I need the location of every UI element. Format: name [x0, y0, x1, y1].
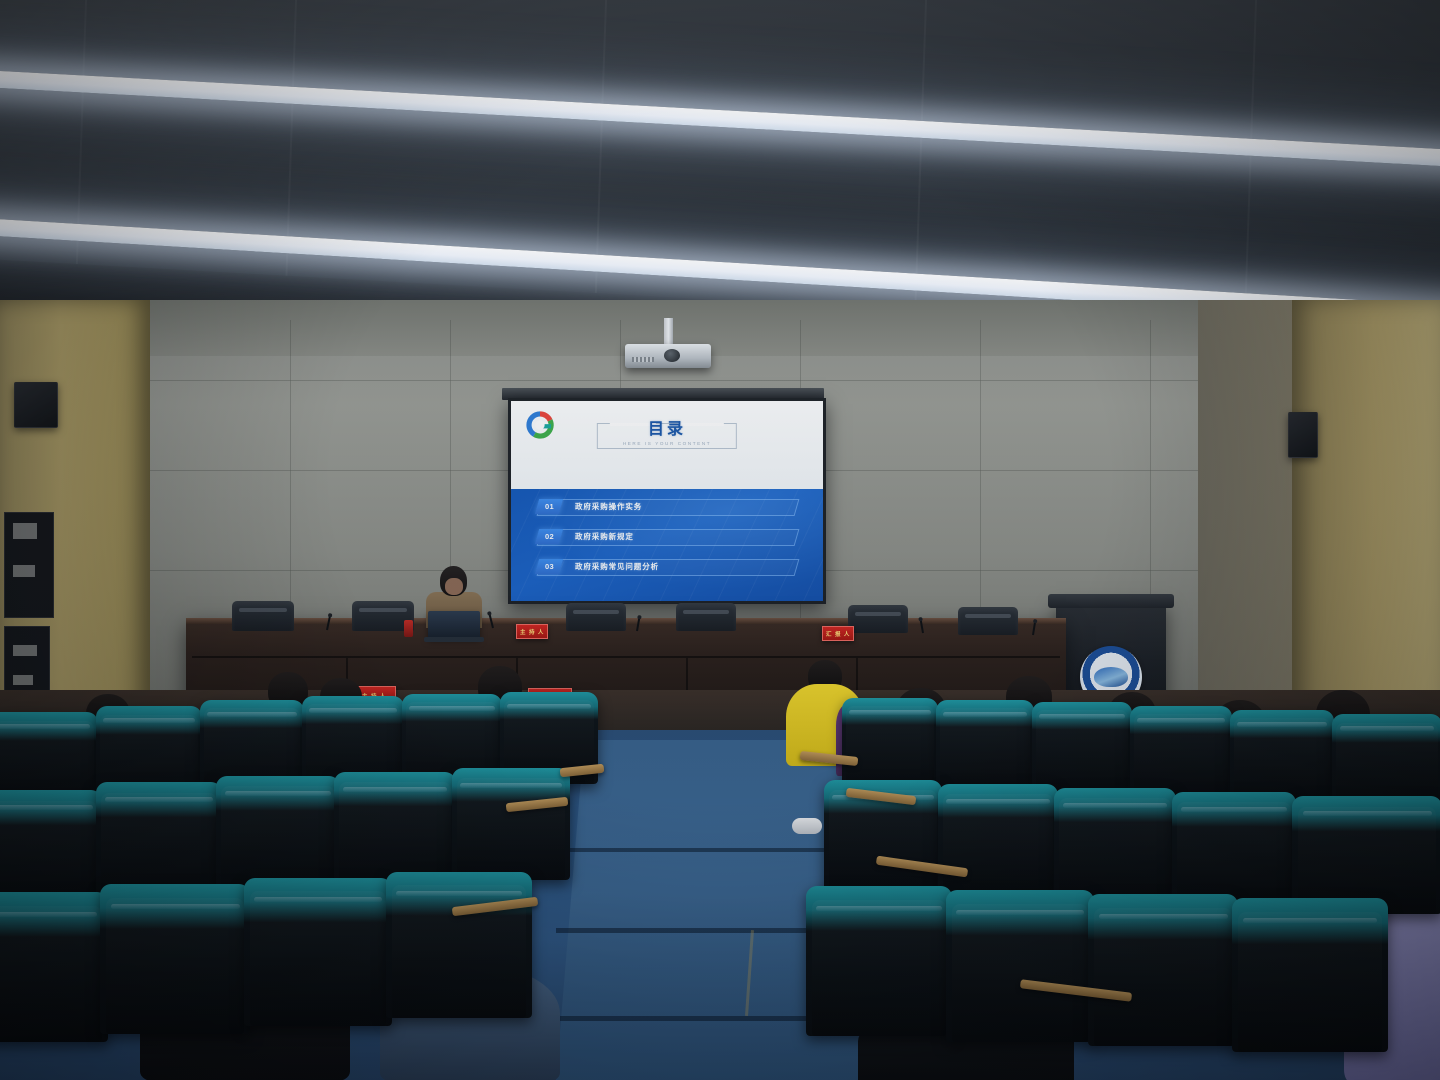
list-item: 01 政府采购操作实务 [537, 499, 797, 514]
table-of-contents-list: 01 政府采购操作实务 02 政府采购新规定 0 [511, 499, 823, 589]
auditorium-seat [1230, 710, 1334, 804]
projection-screen: 目录 Here is your Content 01 政府采购操作实务 [508, 398, 826, 604]
item-number-badge: 03 [535, 559, 563, 574]
item-number-badge: 02 [535, 529, 563, 544]
lecture-hall-photo: 目录 Here is your Content 01 政府采购操作实务 [0, 0, 1440, 1080]
auditorium-seat [842, 698, 938, 788]
auditorium-seat [1130, 706, 1232, 800]
item-label: 政府采购新规定 [575, 531, 634, 542]
projector-vent [632, 357, 654, 362]
conference-chair [958, 607, 1018, 635]
table-nameplate: 汇 报 人 [822, 626, 854, 641]
auditorium-seat [216, 776, 340, 892]
slide-subtitle: Here is your Content [623, 441, 711, 446]
item-number: 01 [545, 502, 554, 511]
nameplate-text: 汇 报 人 [826, 629, 850, 637]
auditorium-seat [1292, 796, 1440, 914]
right-wall-column [1292, 300, 1440, 730]
slide-title: 目录 [623, 422, 711, 438]
auditorium-seat [1232, 898, 1388, 1052]
projector-lens-icon [664, 349, 680, 362]
presenter-laptop [428, 611, 480, 638]
wall-speaker-icon [14, 382, 58, 428]
list-item: 03 政府采购常见问题分析 [537, 559, 797, 574]
spiral-g-logo [523, 408, 557, 442]
presentation-slide: 目录 Here is your Content 01 政府采购操作实务 [511, 401, 823, 601]
item-label: 政府采购常见问题分析 [575, 561, 659, 572]
auditorium-seat [0, 790, 102, 908]
slide-header-area: 目录 Here is your Content [511, 401, 823, 489]
right-wall-panel [1198, 300, 1294, 730]
presenter-face [445, 578, 463, 595]
auditorium-seat [452, 768, 570, 880]
item-label: 政府采购操作实务 [575, 501, 642, 512]
slide-title-block: 目录 Here is your Content [597, 419, 737, 449]
table-nameplate: 主 持 人 [516, 624, 548, 639]
table-edge [186, 618, 1066, 624]
auditorium-seat [100, 884, 250, 1034]
auditorium-seat [244, 878, 392, 1026]
item-number-badge: 01 [535, 499, 563, 514]
list-item: 02 政府采购新规定 [537, 529, 797, 544]
wall-electrical-box [4, 512, 54, 618]
conference-chair [566, 603, 626, 631]
auditorium-seat [1054, 788, 1176, 902]
red-cup [404, 620, 413, 637]
auditorium-seat [1032, 702, 1132, 794]
podium-top-surface [1048, 594, 1174, 608]
audience-shoe [792, 818, 822, 834]
auditorium-seat [938, 784, 1058, 896]
wall-speaker-icon [1288, 412, 1318, 458]
auditorium-seat [806, 886, 952, 1036]
conference-chair [676, 603, 736, 631]
item-number: 02 [545, 532, 554, 541]
auditorium-seat [96, 782, 222, 900]
auditorium-seat [946, 890, 1094, 1042]
auditorium-seat [1172, 792, 1296, 908]
auditorium-seat [0, 892, 108, 1042]
conference-chair [848, 605, 908, 633]
auditorium-seat [936, 700, 1034, 790]
auditorium-seat [334, 772, 456, 886]
nameplate-text: 主 持 人 [520, 627, 544, 635]
table-seam [192, 656, 1060, 658]
item-number: 03 [545, 562, 554, 571]
auditorium-seat [1088, 894, 1238, 1046]
conference-chair [232, 601, 294, 631]
auditorium-seat [386, 872, 532, 1018]
slide-content-area: 01 政府采购操作实务 02 政府采购新规定 0 [511, 489, 823, 601]
